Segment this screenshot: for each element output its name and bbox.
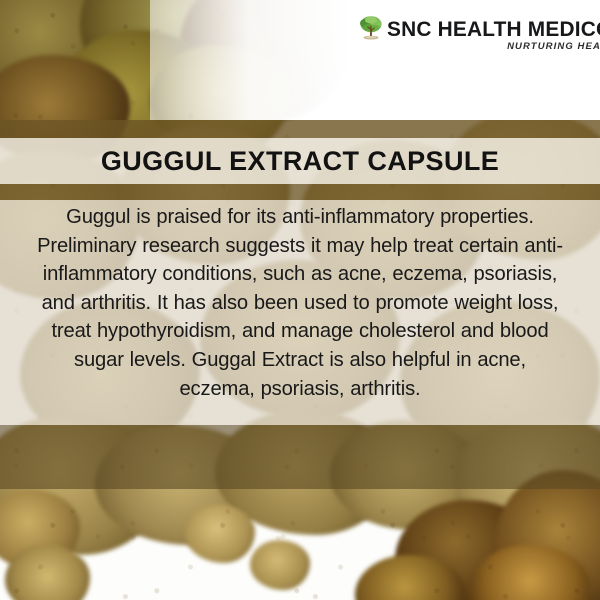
tree-icon [358,15,384,43]
product-poster: SNC HEALTH MEDICO® NURTURING HEALTH GUGG… [0,0,600,600]
brand-name: SNC HEALTH MEDICO® [387,14,600,40]
product-description: Guggul is praised for its anti-inflammat… [34,203,566,403]
band-mid-dark [0,184,600,200]
brand-logo: SNC HEALTH MEDICO® NURTURING HEALTH [358,14,600,54]
band-bottom-dark [0,425,600,489]
brand-name-text: SNC HEALTH MEDICO [387,17,600,41]
logo-wordmark: SNC HEALTH MEDICO® NURTURING HEALTH [387,14,600,54]
product-title: GUGGUL EXTRACT CAPSULE [0,138,600,184]
band-top-dark [0,120,600,138]
brand-tagline: NURTURING HEALTH [387,40,600,54]
header: SNC HEALTH MEDICO® NURTURING HEALTH [0,0,600,120]
